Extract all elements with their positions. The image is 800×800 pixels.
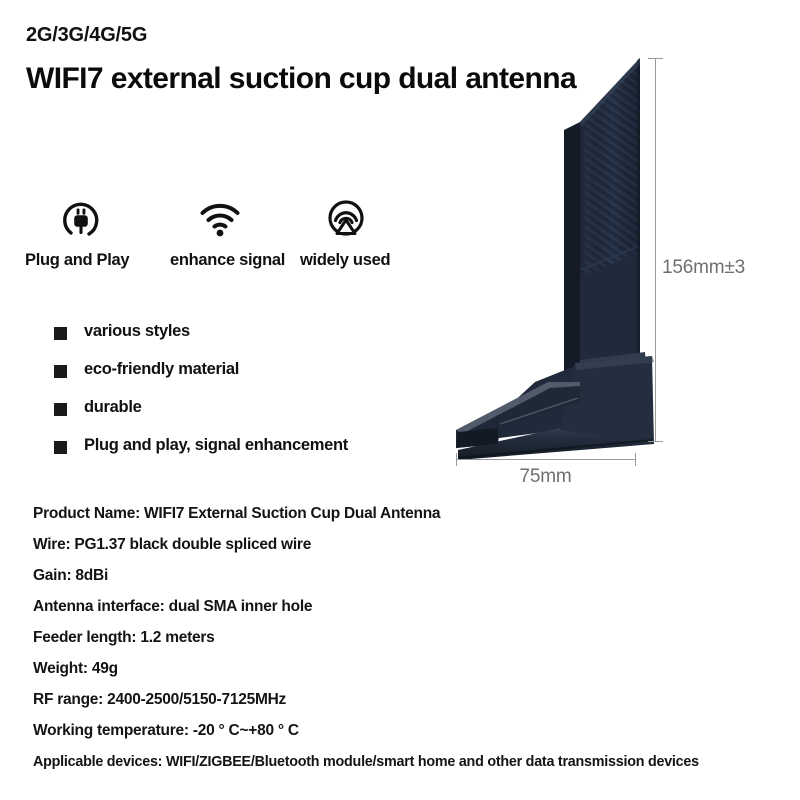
spec-line: Working temperature: -20 ° C~+80 ° C	[33, 720, 793, 751]
spec-line: Weight: 49g	[33, 658, 793, 689]
bullet-list: various styles eco-friendly material dur…	[54, 322, 454, 474]
spec-line: Product Name: WIFI7 External Suction Cup…	[33, 503, 793, 534]
spec-line: Antenna interface: dual SMA inner hole	[33, 596, 793, 627]
spec-line: Gain: 8dBi	[33, 565, 793, 596]
spec-line: Wire: PG1.37 black double spliced wire	[33, 534, 793, 565]
antenna-panel	[564, 58, 640, 390]
height-dimension-line	[655, 58, 656, 441]
list-item: various styles	[54, 322, 454, 360]
feature-label: widely used	[300, 251, 390, 270]
feature-label: enhance signal	[170, 251, 285, 270]
spec-line: Feeder length: 1.2 meters	[33, 627, 793, 658]
width-dimension-tick-left	[456, 453, 457, 466]
antenna-base	[456, 352, 654, 460]
plug-in-circle-icon	[58, 196, 104, 242]
bullet-square-icon	[54, 441, 67, 454]
wifi-signal-icon	[197, 196, 243, 242]
specification-list: Product Name: WIFI7 External Suction Cup…	[33, 503, 793, 782]
kicker-text: 2G/3G/4G/5G	[26, 24, 147, 47]
bullet-label: various styles	[84, 322, 190, 341]
feature-label: Plug and Play	[25, 251, 129, 270]
bullet-square-icon	[54, 327, 67, 340]
list-item: durable	[54, 398, 454, 436]
bullet-square-icon	[54, 365, 67, 378]
width-dimension-label: 75mm	[456, 466, 635, 488]
bullet-label: eco-friendly material	[84, 360, 239, 379]
spec-line: RF range: 2400-2500/5150-7125MHz	[33, 689, 793, 720]
height-dimension-tick-bottom	[648, 441, 663, 442]
product-image	[440, 30, 800, 490]
height-dimension-label: 156mm±3	[662, 257, 745, 279]
width-dimension-line	[456, 459, 635, 460]
list-item: eco-friendly material	[54, 360, 454, 398]
bullet-square-icon	[54, 403, 67, 416]
height-dimension-tick-top	[648, 58, 663, 59]
list-item: Plug and play, signal enhancement	[54, 436, 454, 474]
feature-list: Plug and Play enhance signal widely used	[0, 196, 430, 286]
bullet-label: durable	[84, 398, 142, 417]
bullet-label: Plug and play, signal enhancement	[84, 436, 348, 455]
width-dimension-tick-right	[635, 453, 636, 466]
antenna-tower-in-circle-icon	[323, 196, 369, 242]
spec-line: Applicable devices: WIFI/ZIGBEE/Bluetoot…	[33, 751, 759, 782]
